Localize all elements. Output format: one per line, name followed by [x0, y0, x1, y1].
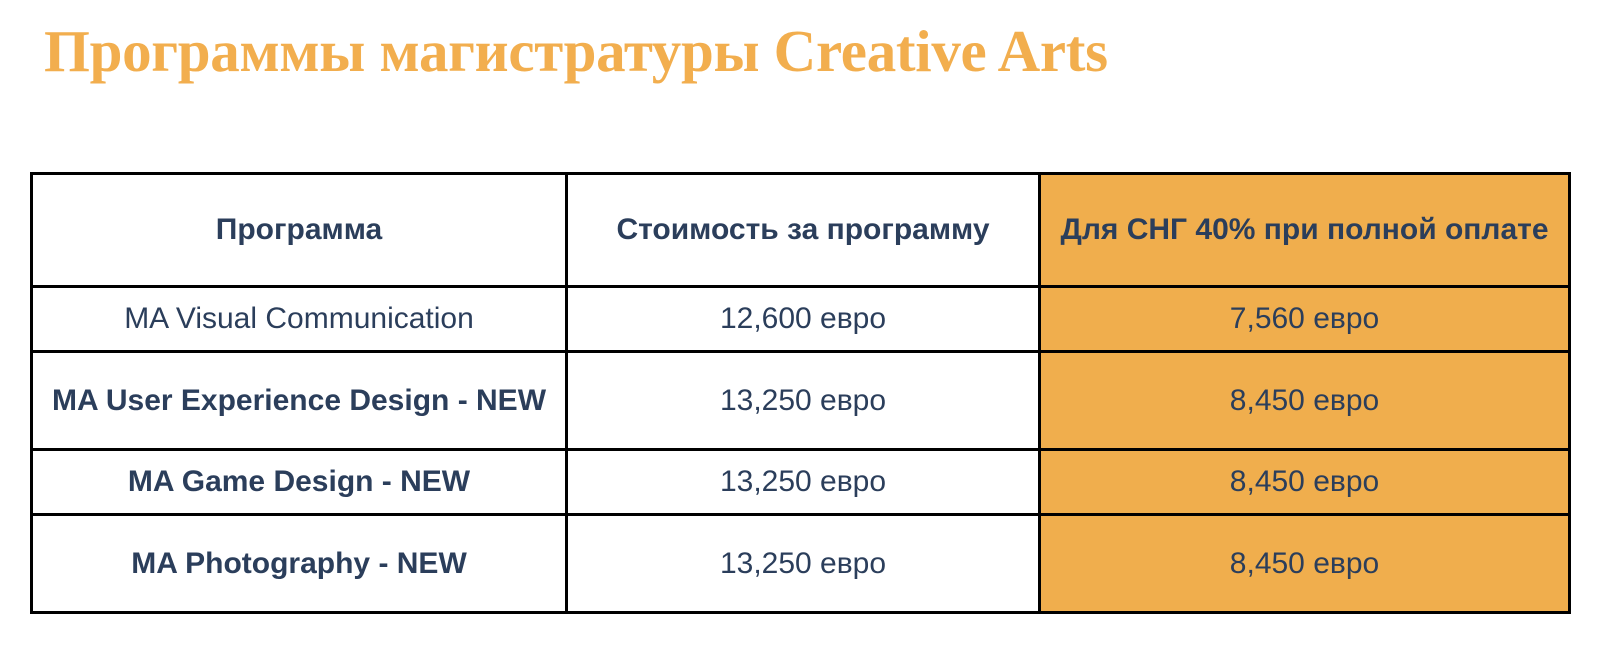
column-header-price: Стоимость за программу: [567, 174, 1040, 287]
cell-program-name: MA Photography - NEW: [32, 515, 567, 613]
programs-price-table: Программа Стоимость за программу Для СНГ…: [30, 172, 1571, 614]
slide: Программы магистратуры Creative Arts Про…: [0, 0, 1604, 658]
column-header-discount: Для СНГ 40% при полной оплате: [1040, 174, 1570, 287]
cell-program-price: 13,250 евро: [567, 450, 1040, 515]
page-title: Программы магистратуры Creative Arts: [44, 18, 1108, 84]
cell-discount-price: 8,450 евро: [1040, 515, 1570, 613]
table-row: MA Photography - NEW 13,250 евро 8,450 е…: [32, 515, 1570, 613]
table-header-row: Программа Стоимость за программу Для СНГ…: [32, 174, 1570, 287]
table-row: MA Visual Communication 12,600 евро 7,56…: [32, 287, 1570, 352]
cell-discount-price: 8,450 евро: [1040, 450, 1570, 515]
cell-program-name: MA User Experience Design - NEW: [32, 352, 567, 450]
column-header-program: Программа: [32, 174, 567, 287]
cell-program-price: 12,600 евро: [567, 287, 1040, 352]
cell-program-name: MA Visual Communication: [32, 287, 567, 352]
table-row: MA Game Design - NEW 13,250 евро 8,450 е…: [32, 450, 1570, 515]
cell-discount-price: 7,560 евро: [1040, 287, 1570, 352]
cell-program-name: MA Game Design - NEW: [32, 450, 567, 515]
table-row: MA User Experience Design - NEW 13,250 е…: [32, 352, 1570, 450]
cell-discount-price: 8,450 евро: [1040, 352, 1570, 450]
cell-program-price: 13,250 евро: [567, 515, 1040, 613]
cell-program-price: 13,250 евро: [567, 352, 1040, 450]
